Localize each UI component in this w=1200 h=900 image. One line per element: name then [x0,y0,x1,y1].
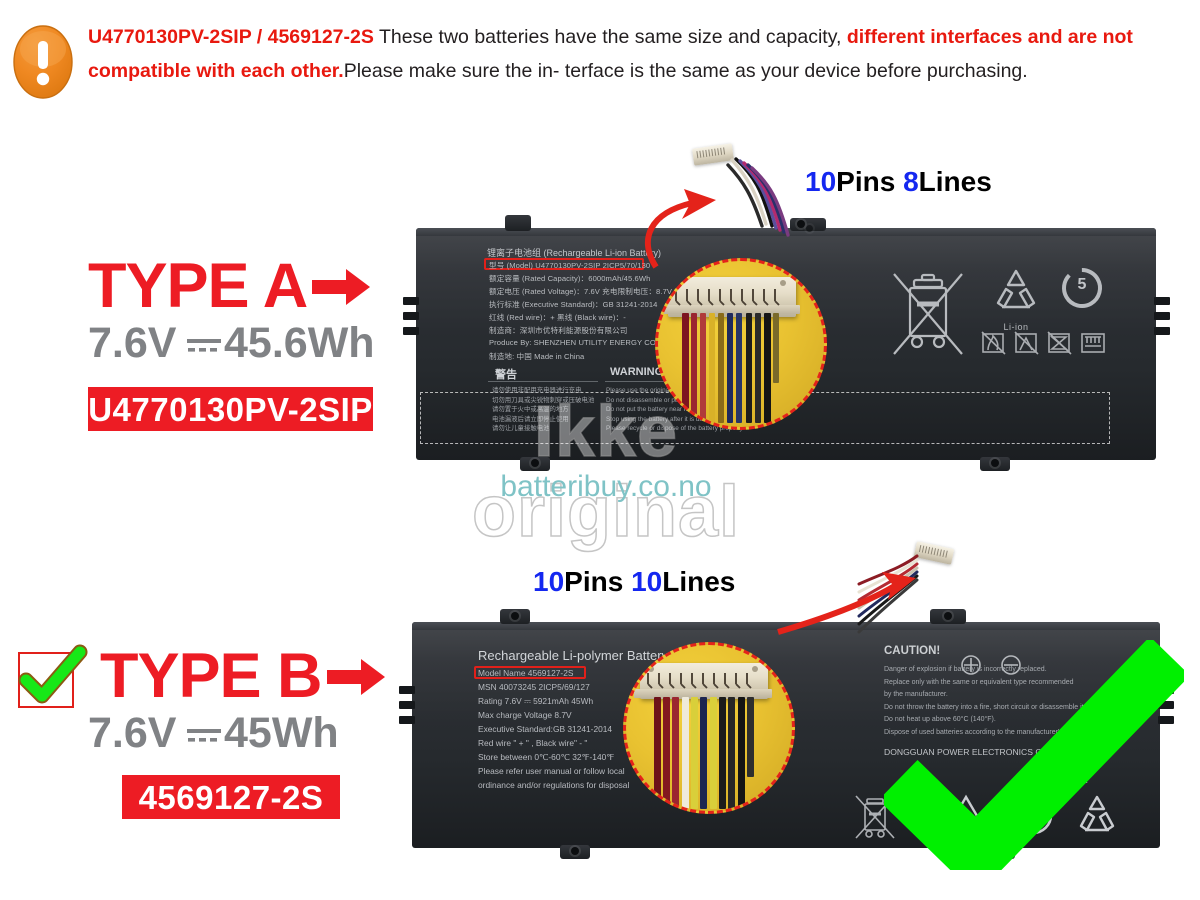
bat-b-label-row-3: Max charge Voltage 8.7V [478,710,572,720]
bat-b-hole-top-left [511,612,519,620]
type-b-capacity: 45Wh [224,712,339,755]
type-b-section: Rechargeable Li-polymer Battery Model Na… [0,0,1200,900]
dc-voltage-icon [185,725,223,747]
bat-b-label-row-4: Executive Standard:GB 31241-2014 [478,724,612,734]
type-b-pins-word: Pins [564,566,623,597]
type-b-lines-word: Lines [662,566,735,597]
type-b-voltage: 7.6V [88,712,176,755]
bat-b-label-row-6: Store between 0℃-60℃ 32℉-140℉ [478,752,614,762]
bat-b-notch-2 [399,701,415,709]
bat-b-label-row-7: Please refer user manual or follow local [478,766,625,776]
type-b-connector-zoom [623,642,795,814]
bat-b-label-row-0: Model Name 4569127-2S [478,668,573,678]
bat-b-label-row-1: MSN 40073245 2ICP5/69/127 [478,682,590,692]
type-b-pins-count: 10 [533,566,564,597]
type-b-pins-lines-label: 10Pins 10Lines [533,566,735,598]
bat-b-notch-1 [399,686,415,694]
green-check-icon [16,642,88,714]
bat-b-label-row-5: Red wire " + " , Black wire" - " [478,738,587,748]
type-b-title: TYPE B [100,645,322,708]
bat-b-notch-3 [399,716,415,724]
bat-b-label-heading: Rechargeable Li-polymer Battery [478,648,668,663]
bat-b-hole-bottom-left [571,847,579,855]
bat-b-label-row-2: Rating 7.6V ⎓ 5921mAh 45Wh [478,696,593,707]
curved-red-arrow-icon [770,570,920,640]
bat-b-label-row-8: ordinance and/or regulations for disposa… [478,780,629,790]
type-b-lines-count: 10 [631,566,662,597]
type-b-model-chip: 4569127-2S [122,775,340,819]
right-arrow-icon [325,656,387,698]
big-green-check-icon [884,640,1184,870]
